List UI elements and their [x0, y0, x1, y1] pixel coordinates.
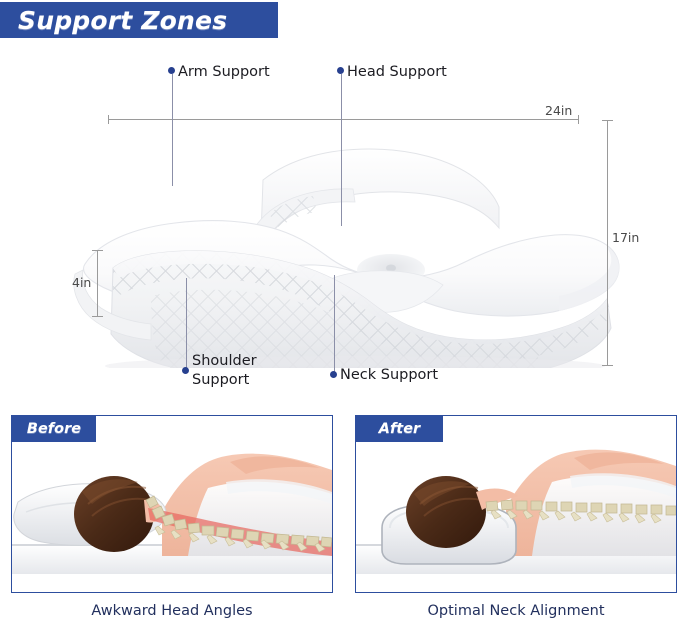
after-illustration	[356, 416, 676, 592]
infographic-root: Support Zones	[0, 0, 679, 628]
comparison-panel-before: Before	[11, 415, 333, 593]
callout-label-arm-support: Arm Support	[178, 63, 270, 82]
callout-label-neck-support: Neck Support	[340, 366, 438, 385]
badge-after: After	[356, 416, 443, 442]
callout-label-shoulder-support-line2: Support	[192, 371, 249, 390]
dimension-label-height: 17in	[612, 230, 639, 245]
callout-dot-neck-support	[330, 371, 337, 378]
comparison-panel-after: After	[355, 415, 677, 593]
dimension-tick-height-bottom	[602, 365, 613, 366]
dimension-tick-width-left	[108, 115, 109, 124]
leader-line-arm-support	[172, 74, 173, 186]
before-illustration	[12, 416, 332, 592]
callout-label-shoulder-support: Shoulder	[192, 352, 257, 371]
dimension-tick-thickness-top	[92, 250, 103, 251]
callout-dot-shoulder-support	[182, 367, 189, 374]
callout-label-head-support: Head Support	[347, 63, 447, 82]
dimension-label-width: 24in	[545, 103, 572, 118]
dimension-line-height	[607, 120, 608, 365]
pillow-rear-wing	[261, 149, 499, 237]
callout-dot-head-support	[337, 67, 344, 74]
center-seam	[386, 265, 396, 272]
caption-before: Awkward Head Angles	[11, 603, 333, 619]
caption-after: Optimal Neck Alignment	[355, 603, 677, 619]
pillow-illustration	[55, 118, 625, 368]
page-title: Support Zones	[0, 6, 227, 35]
dimension-label-thickness: 4in	[72, 275, 91, 290]
leader-line-shoulder-support	[186, 278, 187, 370]
badge-before: Before	[12, 416, 96, 442]
dimension-tick-width-right	[578, 115, 579, 124]
callout-dot-arm-support	[168, 67, 175, 74]
dimension-tick-thickness-bottom	[92, 316, 103, 317]
leader-line-head-support	[341, 74, 342, 226]
dimension-line-width	[108, 119, 578, 120]
badge-after-label: After	[365, 421, 434, 437]
dimension-line-thickness	[97, 250, 98, 316]
dimension-tick-height-top	[602, 120, 613, 121]
leader-line-neck-support	[334, 275, 335, 373]
pillow-svg	[55, 118, 625, 368]
badge-before-label: Before	[13, 421, 95, 437]
page-title-banner: Support Zones	[0, 2, 278, 38]
